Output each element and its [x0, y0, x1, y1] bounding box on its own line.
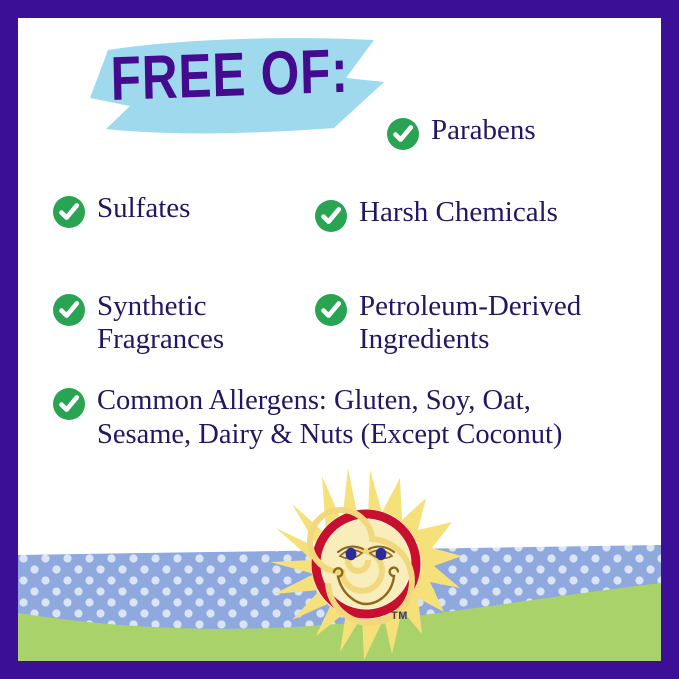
trademark-symbol: TM — [391, 610, 408, 622]
claim-item-synthetic-fragrances: Synthetic Fragrances — [52, 290, 224, 356]
smiling-sun-logo — [266, 464, 466, 661]
claim-label: Synthetic Fragrances — [97, 290, 224, 356]
claim-label: Common Allergens: Gluten, Soy, Oat, Sesa… — [97, 384, 562, 452]
claim-item-sulfates: Sulfates — [52, 192, 190, 229]
check-circle-icon — [52, 387, 86, 421]
claim-label: Parabens — [431, 114, 536, 147]
check-circle-icon — [314, 199, 348, 233]
claim-item-parabens: Parabens — [386, 114, 536, 151]
banner-title: FREE OF: — [110, 41, 335, 111]
check-circle-icon — [386, 117, 420, 151]
check-circle-icon — [314, 293, 348, 327]
free-of-claims-card: FREE OF: Parabens Sulfates — [0, 0, 679, 679]
claim-label: Petroleum-Derived Ingredients — [359, 290, 581, 356]
claim-item-common-allergens: Common Allergens: Gluten, Soy, Oat, Sesa… — [52, 384, 562, 452]
check-circle-icon — [52, 293, 86, 327]
card-inner-panel: FREE OF: Parabens Sulfates — [18, 18, 661, 661]
free-of-banner: FREE OF: — [84, 36, 404, 144]
claim-label: Harsh Chemicals — [359, 196, 558, 229]
check-circle-icon — [52, 195, 86, 229]
claim-item-harsh-chemicals: Harsh Chemicals — [314, 196, 558, 233]
claim-label: Sulfates — [97, 192, 190, 225]
claim-item-petroleum-derived: Petroleum-Derived Ingredients — [314, 290, 581, 356]
